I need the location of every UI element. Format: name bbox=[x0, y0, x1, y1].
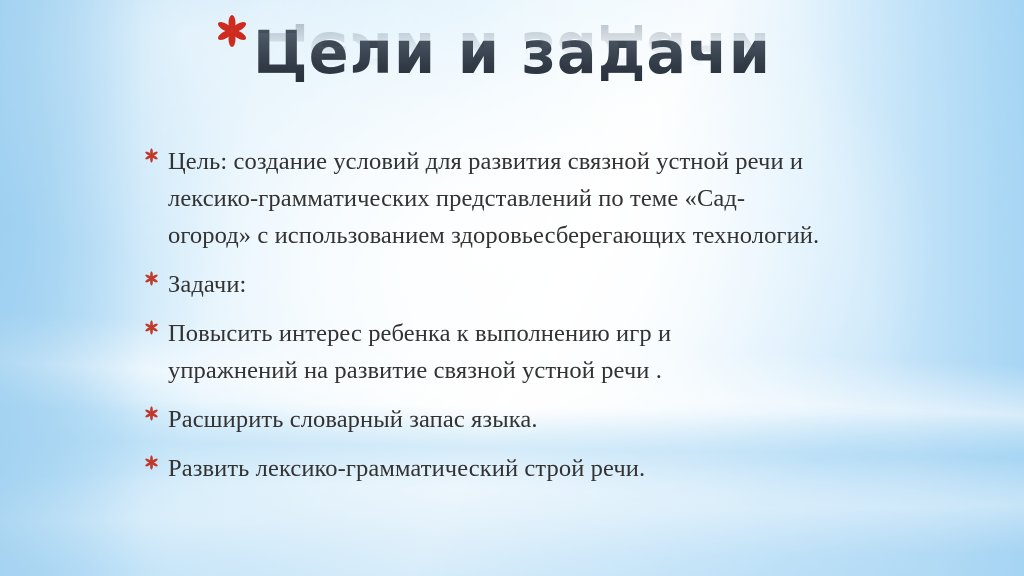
asterisk-bullet-icon bbox=[144, 455, 159, 470]
slide-canvas: Цели и задачи Цели и задачи Цель: созд bbox=[0, 0, 1024, 576]
title-asterisk-icon bbox=[215, 14, 249, 48]
list-item-text: Цель: создание условий для развития связ… bbox=[168, 143, 828, 254]
list-item: Цель: создание условий для развития связ… bbox=[142, 143, 842, 254]
asterisk-bullet-icon bbox=[144, 271, 159, 286]
asterisk-bullet-icon bbox=[144, 320, 159, 335]
list-item: Расширить словарный запас языка. bbox=[142, 401, 842, 438]
list-item: Задачи: bbox=[142, 266, 842, 303]
list-item-text: Расширить словарный запас языка. bbox=[168, 401, 842, 438]
content-bullet-list: Цель: создание условий для развития связ… bbox=[142, 143, 842, 487]
asterisk-bullet-icon bbox=[144, 406, 159, 421]
list-item-text: Повысить интерес ребенка к выполнению иг… bbox=[168, 315, 768, 389]
list-item: Развить лексико-грамматический строй реч… bbox=[142, 450, 842, 487]
page-title: Цели и задачи Цели и задачи bbox=[0, 22, 1024, 146]
page-title-reflection: Цели и задачи bbox=[253, 22, 771, 84]
list-item-text: Задачи: bbox=[168, 266, 842, 303]
asterisk-bullet-icon bbox=[144, 148, 159, 163]
list-item-text: Развить лексико-грамматический строй реч… bbox=[168, 450, 842, 487]
title-row: Цели и задачи Цели и задачи bbox=[253, 22, 771, 146]
list-item: Повысить интерес ребенка к выполнению иг… bbox=[142, 315, 842, 389]
